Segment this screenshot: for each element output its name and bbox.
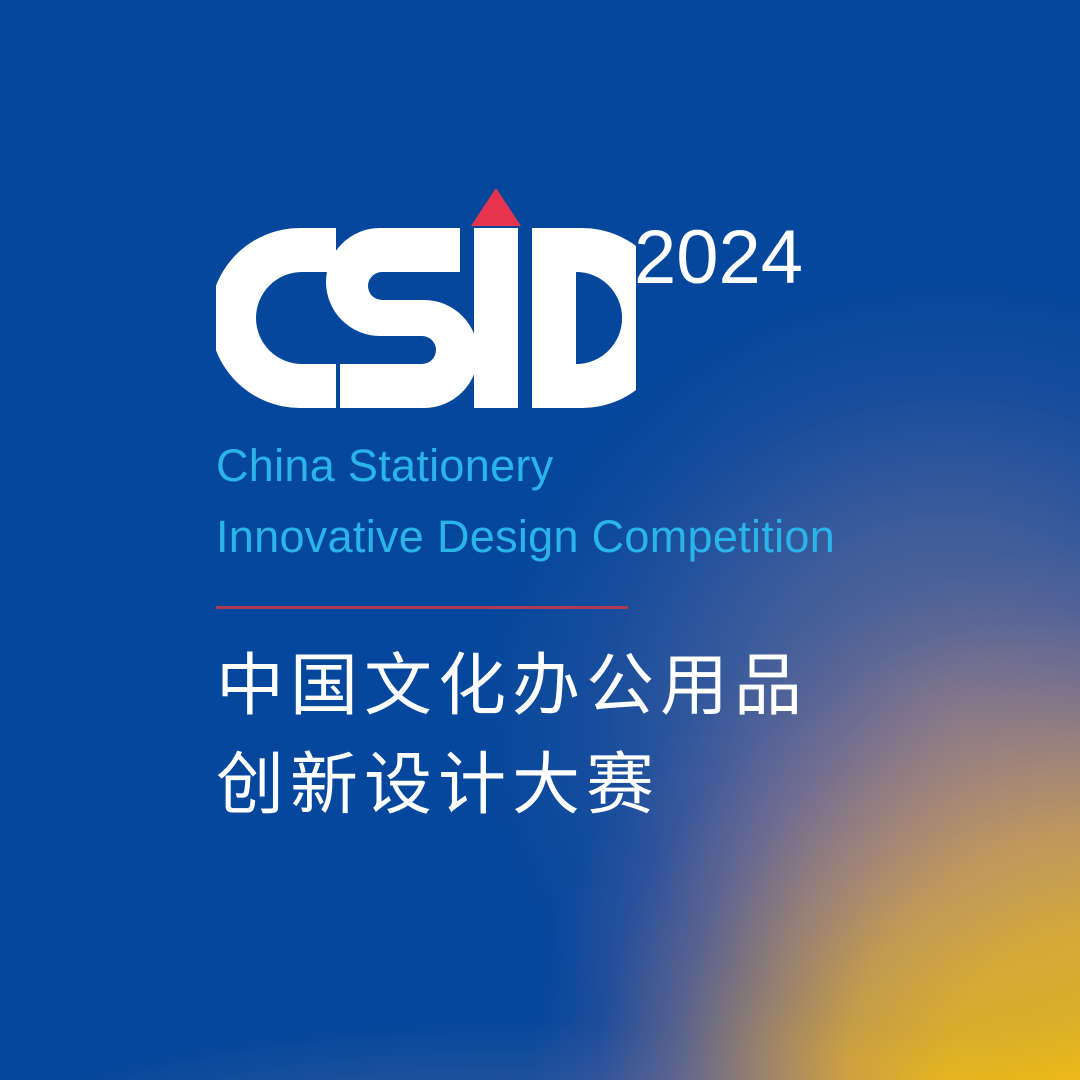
chinese-title-line-1: 中国文化办公用品 bbox=[216, 637, 976, 736]
poster-content: 2024 China Stationery Innovative Design … bbox=[216, 186, 976, 834]
poster-canvas: 2024 China Stationery Innovative Design … bbox=[0, 0, 1080, 1080]
english-subtitle-line-1: China Stationery bbox=[216, 430, 976, 501]
logo-year: 2024 bbox=[634, 220, 803, 296]
english-subtitle-line-2: Innovative Design Competition bbox=[216, 501, 976, 572]
logo-lockup: 2024 bbox=[216, 186, 976, 418]
chinese-title-line-2: 创新设计大赛 bbox=[216, 736, 976, 835]
chinese-title: 中国文化办公用品 创新设计大赛 bbox=[216, 637, 976, 834]
csid-wordmark-icon bbox=[216, 186, 636, 418]
english-subtitle: China Stationery Innovative Design Compe… bbox=[216, 430, 976, 572]
title-divider bbox=[216, 606, 628, 609]
